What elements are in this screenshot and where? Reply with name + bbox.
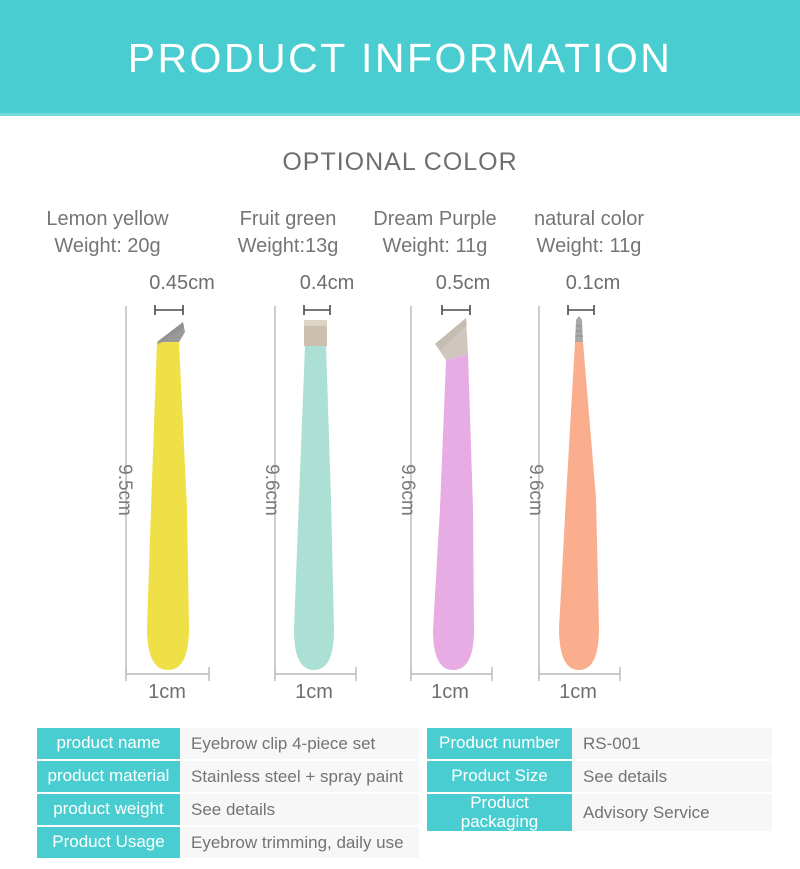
product-diagram-lemon-yellow: 0.45cm 9.5cm 1cm bbox=[105, 272, 255, 702]
variant-weight: Weight: 11g bbox=[361, 233, 509, 260]
variant-name: Dream Purple bbox=[361, 206, 509, 233]
table-row: Product number RS-001 bbox=[427, 728, 772, 759]
tweezer-illustration-dream-purple: 9.6cm 1cm bbox=[388, 298, 538, 702]
spec-value-product-weight: See details bbox=[180, 794, 419, 825]
variant-weight: Weight:13g bbox=[215, 233, 361, 260]
tweezer-body bbox=[294, 346, 334, 670]
tip-width-arrow-icon bbox=[568, 305, 594, 315]
spec-key-product-size: Product Size bbox=[427, 761, 572, 792]
variant-weight: Weight: 20g bbox=[0, 233, 215, 260]
tip-width-label: 0.45cm bbox=[107, 272, 257, 295]
tip-width-arrow-icon bbox=[155, 305, 183, 315]
length-label: 9.5cm bbox=[114, 464, 135, 516]
table-row: product name Eyebrow clip 4-piece set bbox=[37, 728, 419, 759]
tweezer-tip-needle bbox=[575, 316, 583, 342]
tip-highlight bbox=[304, 320, 327, 326]
tweezer-illustration-lemon-yellow: 9.5cm 1cm bbox=[105, 298, 255, 702]
table-row: Product packaging Advisory Service bbox=[427, 794, 772, 831]
variant-label-dream-purple: Dream Purple Weight: 11g bbox=[361, 206, 509, 260]
table-row: product weight See details bbox=[37, 794, 419, 825]
tweezer-body bbox=[433, 354, 474, 670]
page-header: PRODUCT INFORMATION bbox=[0, 0, 800, 113]
base-width-label: 1cm bbox=[295, 681, 333, 702]
base-width-label: 1cm bbox=[559, 681, 597, 702]
spec-key-product-packaging: Product packaging bbox=[427, 794, 572, 831]
table-row: Product Size See details bbox=[427, 761, 772, 792]
product-diagram-row: 0.45cm 9.5cm 1cm 0.4cm bbox=[0, 272, 800, 702]
spec-value-product-name: Eyebrow clip 4-piece set bbox=[180, 728, 419, 759]
spec-value-product-size: See details bbox=[572, 761, 772, 792]
product-diagram-dream-purple: 0.5cm 9.6cm 1cm bbox=[388, 272, 538, 702]
spec-table-right: Product number RS-001 Product Size See d… bbox=[427, 728, 772, 833]
variant-weight: Weight: 11g bbox=[509, 233, 669, 260]
tweezer-body bbox=[559, 342, 599, 670]
table-row: Product Usage Eyebrow trimming, daily us… bbox=[37, 827, 419, 858]
header-divider bbox=[0, 113, 800, 116]
spec-key-product-name: product name bbox=[37, 728, 180, 759]
page-title: PRODUCT INFORMATION bbox=[128, 34, 673, 79]
variant-name: Fruit green bbox=[215, 206, 361, 233]
variant-label-natural-color: natural color Weight: 11g bbox=[509, 206, 669, 260]
tip-width-label: 0.5cm bbox=[388, 272, 538, 295]
tip-width-label: 0.1cm bbox=[518, 272, 668, 295]
variant-name: natural color bbox=[509, 206, 669, 233]
variant-label-fruit-green: Fruit green Weight:13g bbox=[215, 206, 361, 260]
product-diagram-fruit-green: 0.4cm 9.6cm 1cm bbox=[252, 272, 402, 702]
variant-label-row: Lemon yellow Weight: 20g Fruit green Wei… bbox=[0, 206, 800, 260]
table-row: product material Stainless steel + spray… bbox=[37, 761, 419, 792]
product-diagram-natural-color: 0.1cm 9.6cm 1cm bbox=[520, 272, 670, 702]
tip-width-arrow-icon bbox=[304, 305, 330, 315]
specification-tables: product name Eyebrow clip 4-piece set pr… bbox=[0, 728, 800, 868]
spec-key-product-usage: Product Usage bbox=[37, 827, 180, 858]
spec-key-product-weight: product weight bbox=[37, 794, 180, 825]
base-width-label: 1cm bbox=[148, 681, 186, 702]
length-label: 9.6cm bbox=[261, 464, 282, 516]
tip-width-arrow-icon bbox=[442, 305, 470, 315]
tweezer-illustration-natural-color: 9.6cm 1cm bbox=[520, 298, 670, 702]
spec-table-left: product name Eyebrow clip 4-piece set pr… bbox=[37, 728, 419, 860]
spec-value-product-material: Stainless steel + spray paint bbox=[180, 761, 419, 792]
tweezer-body bbox=[147, 342, 189, 670]
spec-value-product-usage: Eyebrow trimming, daily use bbox=[180, 827, 419, 858]
length-label: 9.6cm bbox=[525, 464, 546, 516]
length-label: 9.6cm bbox=[397, 464, 418, 516]
optional-color-heading: OPTIONAL COLOR bbox=[0, 148, 800, 177]
tip-width-label: 0.4cm bbox=[252, 272, 402, 295]
base-width-label: 1cm bbox=[431, 681, 469, 702]
spec-value-product-packaging: Advisory Service bbox=[572, 794, 772, 831]
variant-name: Lemon yellow bbox=[0, 206, 215, 233]
tweezer-illustration-fruit-green: 9.6cm 1cm bbox=[252, 298, 402, 702]
spec-key-product-material: product material bbox=[37, 761, 180, 792]
variant-label-lemon-yellow: Lemon yellow Weight: 20g bbox=[0, 206, 215, 260]
spec-key-product-number: Product number bbox=[427, 728, 572, 759]
spec-value-product-number: RS-001 bbox=[572, 728, 772, 759]
